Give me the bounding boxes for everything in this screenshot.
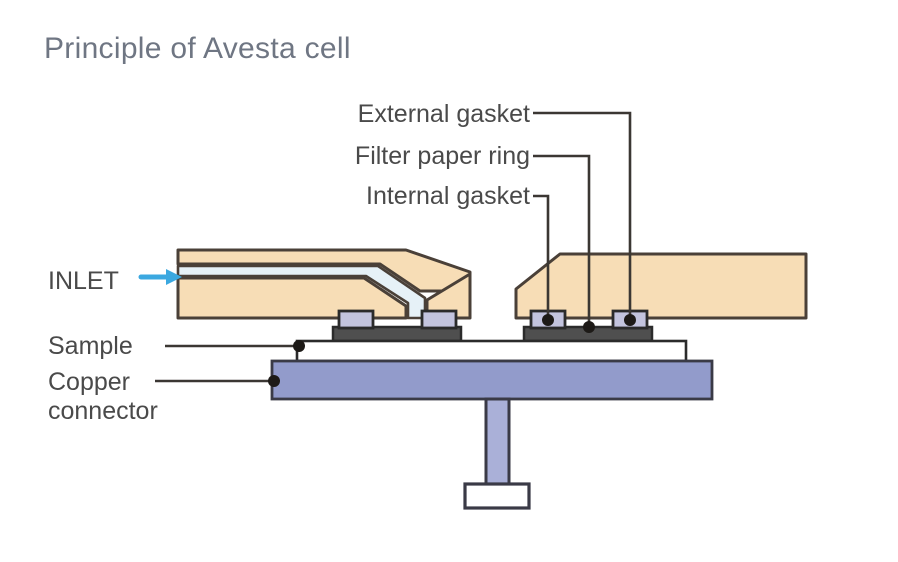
label-sample: Sample xyxy=(48,332,133,360)
copper-connector-bar xyxy=(272,361,712,399)
label-copper-connector-line1: Copper xyxy=(48,368,130,396)
label-internal-gasket: Internal gasket xyxy=(366,182,530,210)
leader-dot-sample xyxy=(293,340,305,352)
copper-connector-stem xyxy=(486,399,509,484)
sample-layer xyxy=(297,341,686,361)
label-filter-paper-ring: Filter paper ring xyxy=(355,142,530,170)
avesta-cell-diagram: External gasket Filter paper ring Intern… xyxy=(0,0,898,562)
copper-connector-base xyxy=(465,484,529,508)
label-copper-connector-line2: connector xyxy=(48,397,158,425)
diagram-root: Principle of Avesta cell xyxy=(0,0,898,562)
leader-dot-internal-gasket xyxy=(542,314,554,326)
leader-dot-filter-paper-ring xyxy=(583,321,595,333)
inlet-arrow-icon xyxy=(141,269,182,285)
label-inlet: INLET xyxy=(48,267,119,295)
left-cell-body xyxy=(178,250,470,318)
leader-dot-copper-connector xyxy=(268,375,280,387)
left-external-gasket-block xyxy=(422,311,456,328)
label-external-gasket: External gasket xyxy=(358,100,530,128)
left-internal-gasket-block xyxy=(339,311,373,328)
leader-dot-external-gasket xyxy=(624,314,636,326)
right-body-slab xyxy=(516,254,806,318)
right-cell-body xyxy=(516,254,806,318)
